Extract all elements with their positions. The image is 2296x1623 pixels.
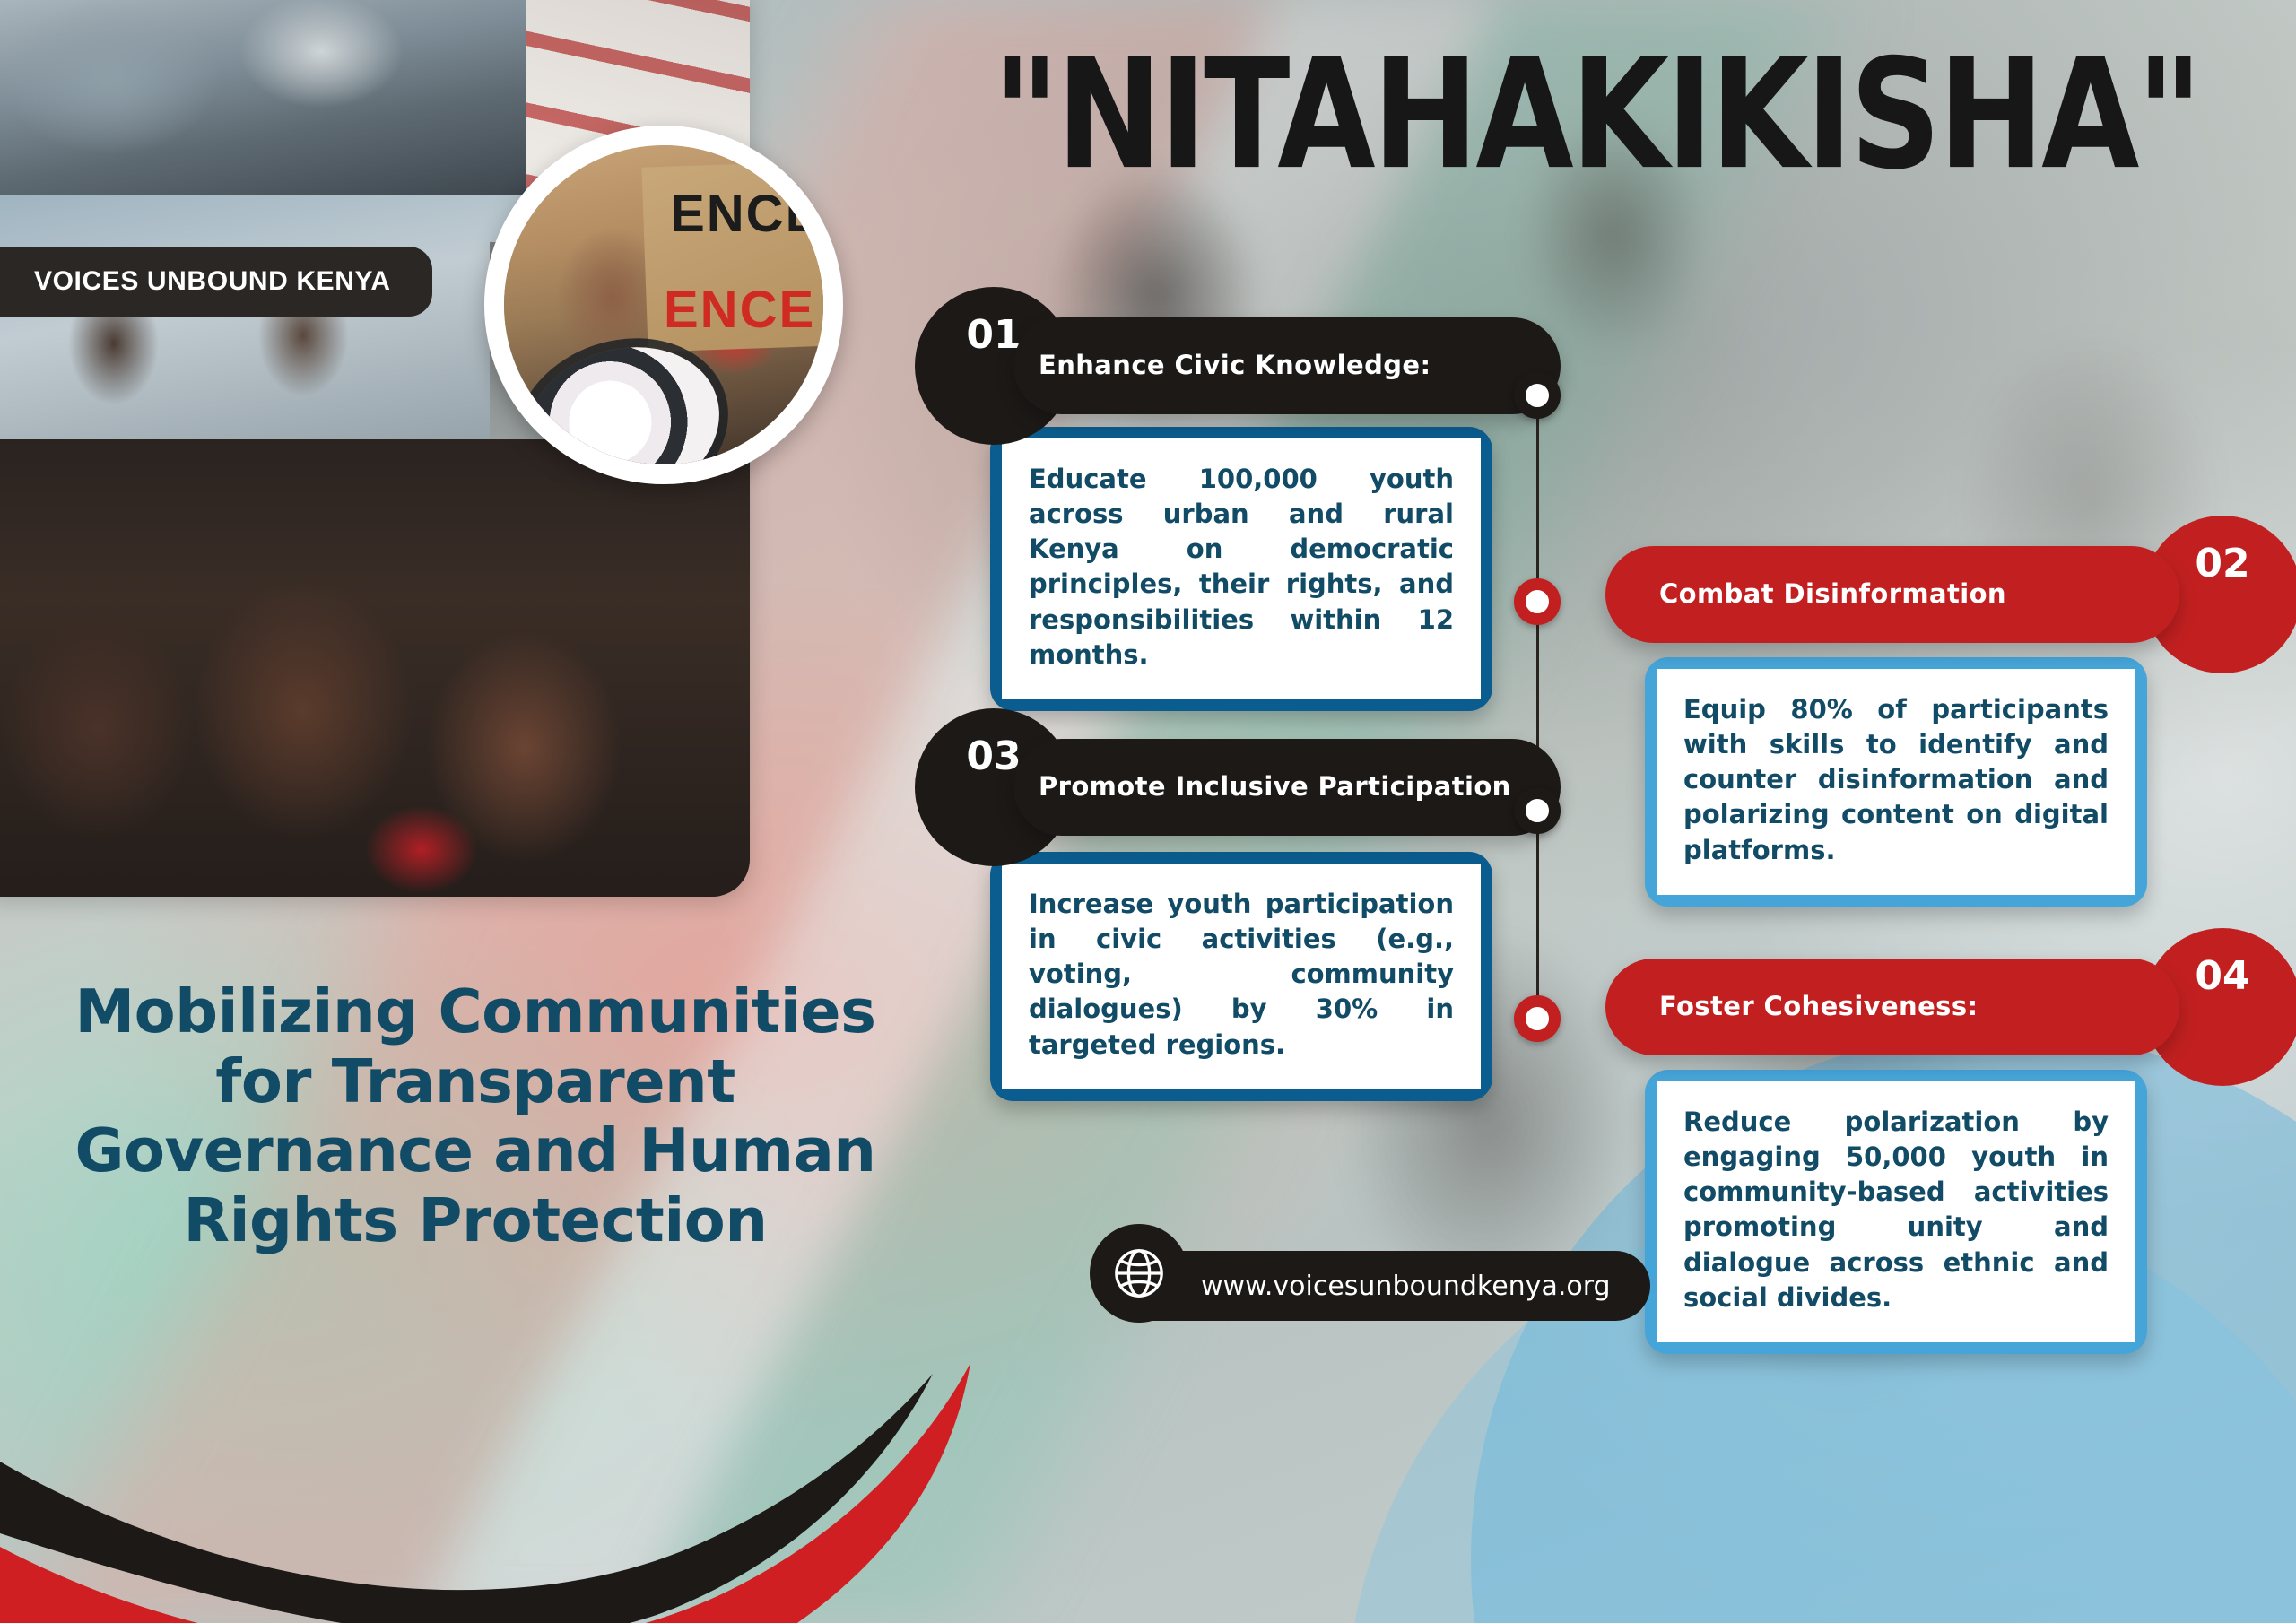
website-link[interactable]: www.voicesunboundkenya.org: [1090, 1224, 1650, 1323]
timeline-node-2: [1514, 578, 1561, 625]
website-url[interactable]: www.voicesunboundkenya.org: [1142, 1251, 1650, 1321]
photo-raised-fists: [0, 195, 561, 464]
step-title-01: Enhance Civic Knowledge:: [1039, 351, 1535, 381]
step-body-02: Equip 80% of participants with skills to…: [1657, 669, 2135, 895]
page-headline: Mobilizing Communities for Transparent G…: [54, 977, 897, 1256]
step-title-bar-01: Enhance Civic Knowledge:: [1013, 317, 1561, 414]
step-title-02: Combat Disinformation: [1659, 579, 2126, 610]
portrait-image: ENCE ENCE: [504, 145, 823, 464]
photo-protest-crowd: [0, 439, 750, 897]
photo-protest-bus: [0, 0, 544, 206]
step-body-03: Increase youth participation in civic ac…: [1002, 864, 1481, 1089]
portrait-placard-line2: ENCE: [664, 280, 815, 340]
step-card-03: Increase youth participation in civic ac…: [990, 852, 1492, 1101]
step-body-01: Educate 100,000 youth across urban and r…: [1002, 438, 1481, 699]
page-title: "NITAHAKIKISHA": [935, 27, 2259, 204]
timeline-node-3: [1514, 787, 1561, 834]
timeline-node-4: [1514, 995, 1561, 1042]
brand-label: VOICES UNBOUND KENYA: [0, 247, 432, 317]
timeline-node-1: [1514, 372, 1561, 419]
step-title-bar-04: Foster Cohesiveness:: [1605, 959, 2179, 1055]
portrait-placard-line1: ENCE: [670, 184, 822, 244]
step-title-04: Foster Cohesiveness:: [1659, 992, 2126, 1022]
step-card-02: Equip 80% of participants with skills to…: [1645, 657, 2147, 907]
portrait-avatar: ENCE ENCE: [484, 126, 843, 484]
step-card-01: Educate 100,000 youth across urban and r…: [990, 427, 1492, 711]
step-title-bar-02: Combat Disinformation: [1605, 546, 2179, 643]
step-title-bar-03: Promote Inclusive Participation: [1013, 739, 1561, 836]
step-card-04: Reduce polarization by engaging 50,000 y…: [1645, 1070, 2147, 1354]
step-body-04: Reduce polarization by engaging 50,000 y…: [1657, 1081, 2135, 1342]
globe-icon: [1090, 1224, 1188, 1323]
timeline-axis: [1536, 386, 1539, 1013]
decor-swoosh: [0, 1327, 1004, 1623]
step-title-03: Promote Inclusive Participation: [1039, 772, 1535, 803]
